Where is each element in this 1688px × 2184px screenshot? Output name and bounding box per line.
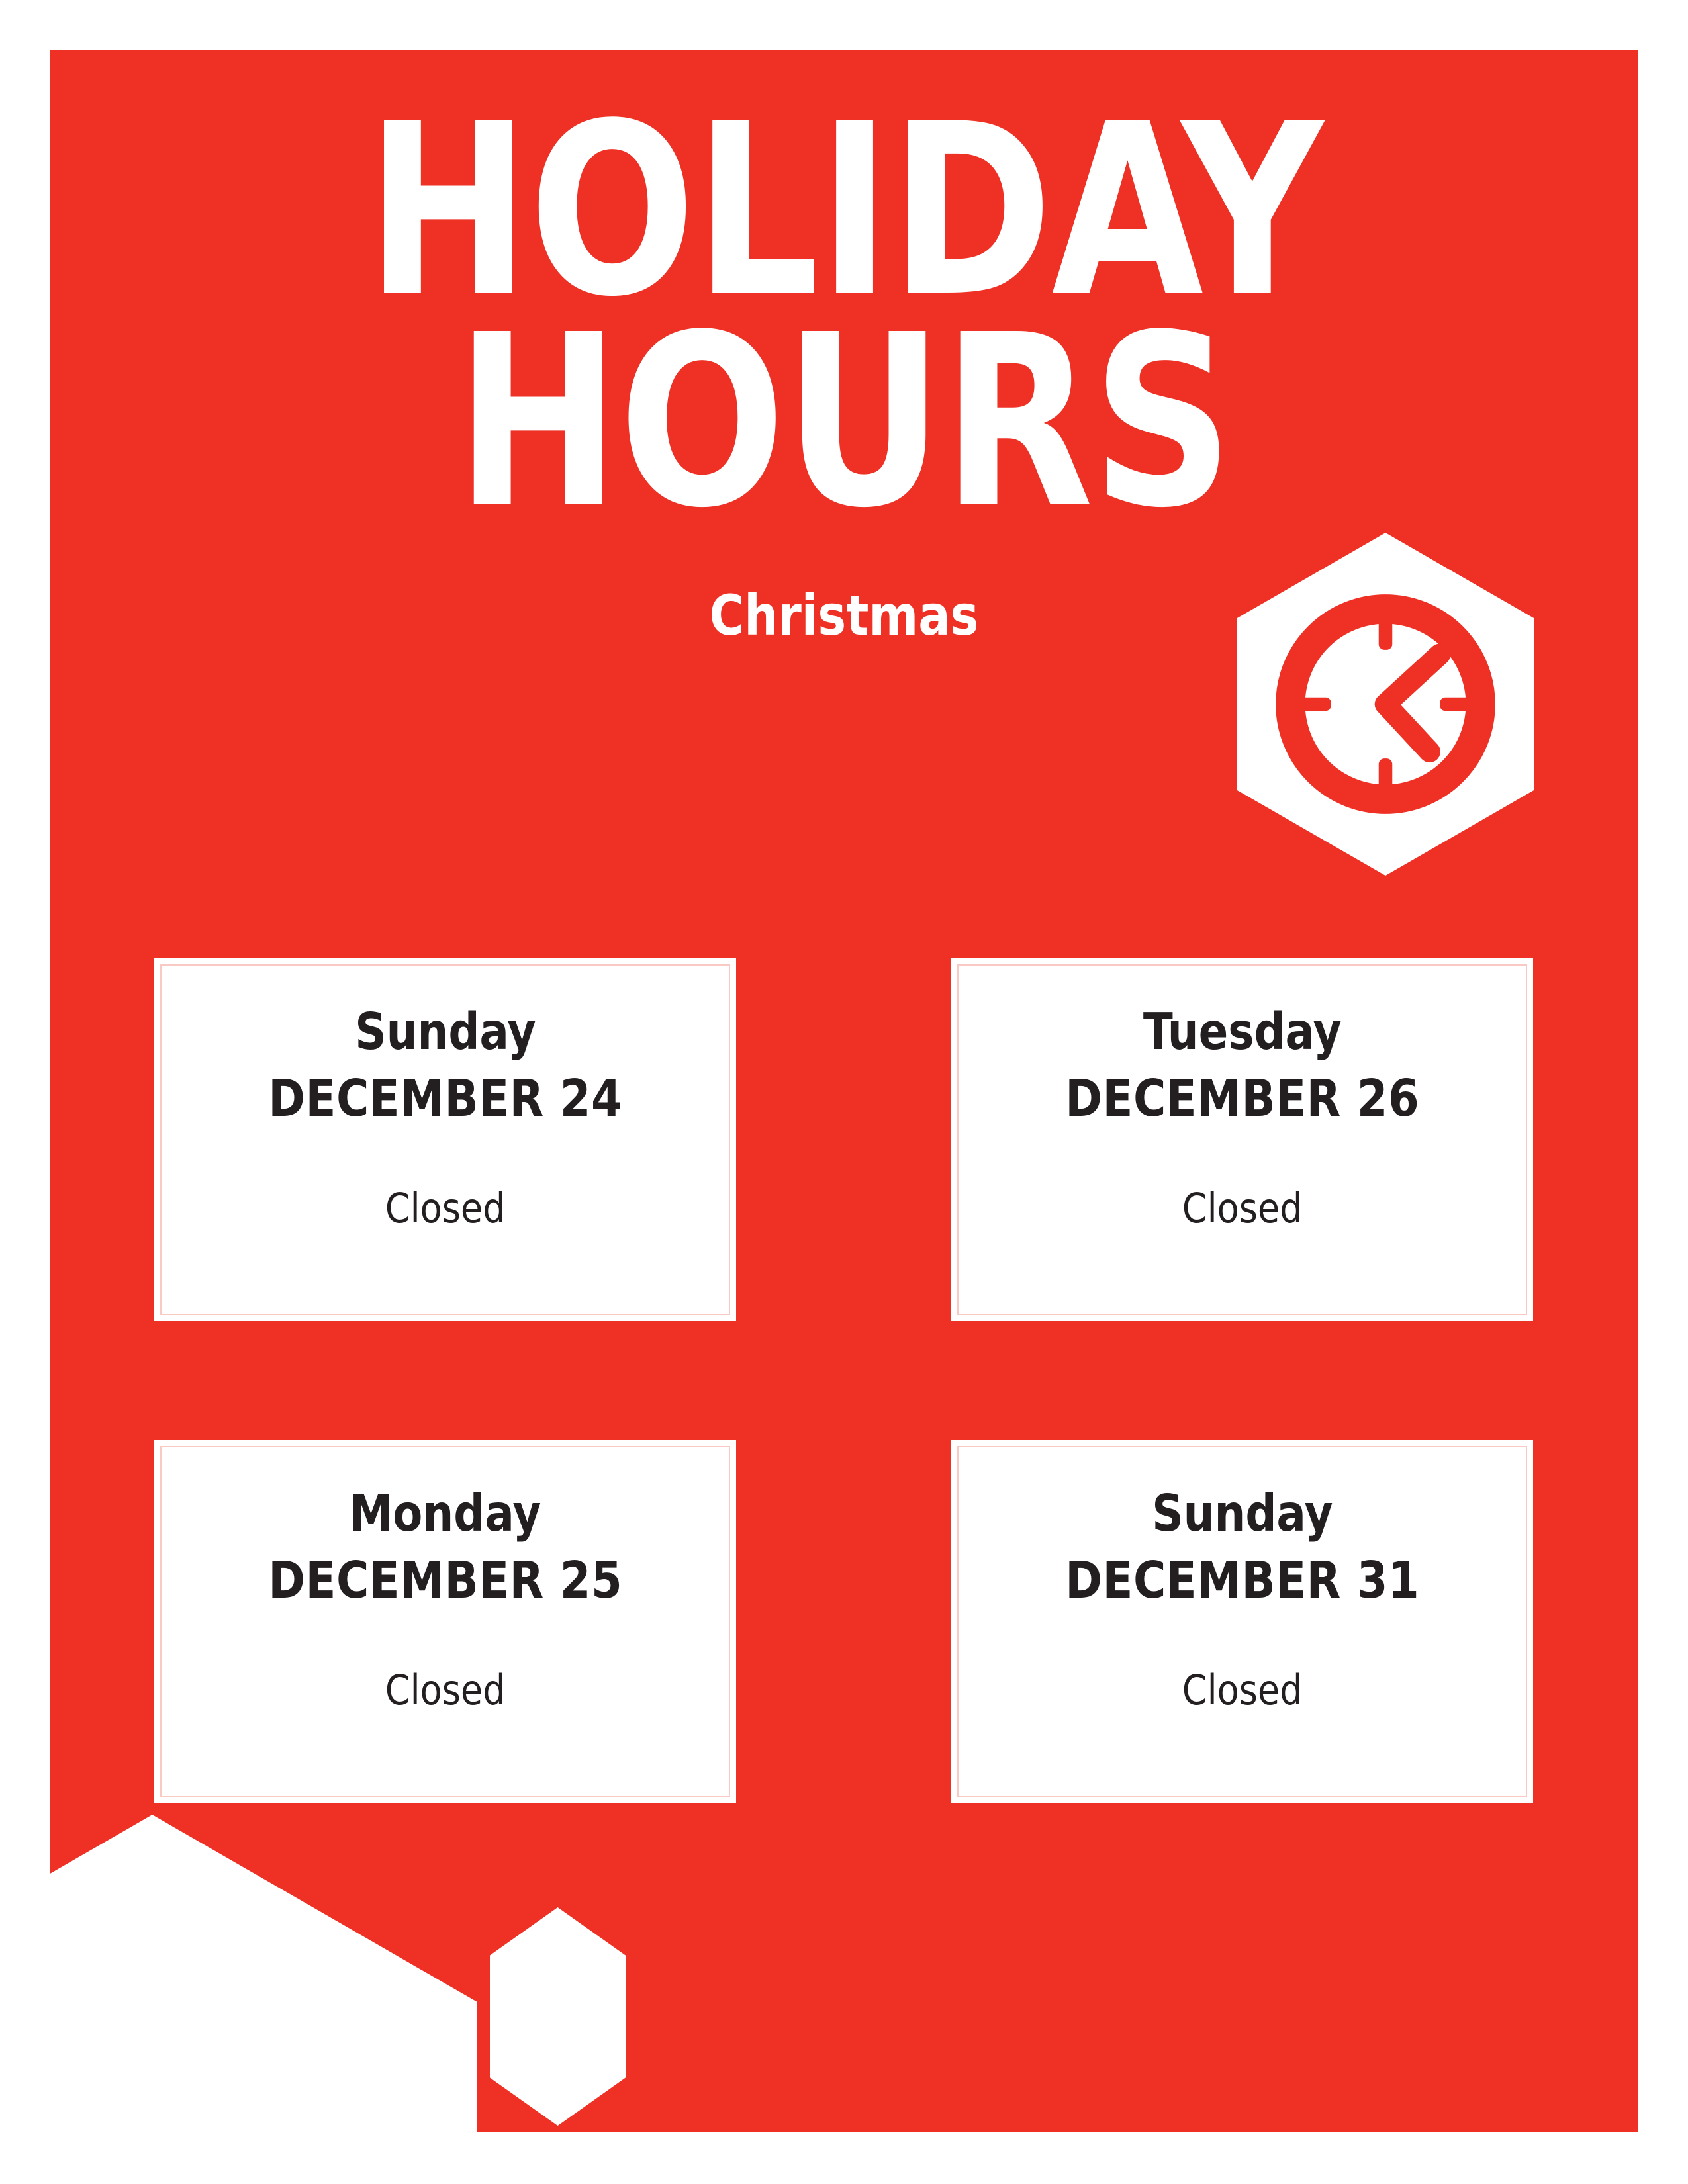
card-date-label: DECEMBER 25	[268, 1555, 622, 1606]
schedule-card[interactable]: Tuesday DECEMBER 26 Closed	[951, 958, 1533, 1321]
card-hours-value: Closed	[385, 1670, 506, 1711]
card-day-label: Sunday	[1152, 1488, 1333, 1539]
card-date-label: DECEMBER 26	[1065, 1073, 1419, 1124]
schedule-card-inner: Monday DECEMBER 25 Closed	[160, 1446, 730, 1797]
holiday-hours-poster: HOLIDAY HOURS Christmas Sunday DECEMBER …	[0, 0, 1688, 2184]
card-date-label: DECEMBER 24	[268, 1073, 622, 1124]
schedule-card[interactable]: Sunday DECEMBER 24 Closed	[154, 958, 736, 1321]
schedule-card[interactable]: Monday DECEMBER 25 Closed	[154, 1440, 736, 1803]
card-hours-value: Closed	[385, 1188, 506, 1229]
clock-icon	[1272, 591, 1499, 817]
schedule-card-inner: Sunday DECEMBER 31 Closed	[957, 1446, 1527, 1797]
card-day-label: Tuesday	[1143, 1007, 1342, 1058]
schedule-card[interactable]: Sunday DECEMBER 31 Closed	[951, 1440, 1533, 1803]
schedule-card-inner: Sunday DECEMBER 24 Closed	[160, 964, 730, 1315]
card-hours-value: Closed	[1182, 1188, 1303, 1229]
clock-badge	[1237, 533, 1534, 876]
card-day-label: Monday	[350, 1488, 541, 1539]
card-date-label: DECEMBER 31	[1065, 1555, 1419, 1606]
page-bottom-margin	[0, 2132, 1688, 2184]
schedule-card-inner: Tuesday DECEMBER 26 Closed	[957, 964, 1527, 1315]
card-hours-value: Closed	[1182, 1670, 1303, 1711]
card-day-label: Sunday	[355, 1007, 536, 1058]
